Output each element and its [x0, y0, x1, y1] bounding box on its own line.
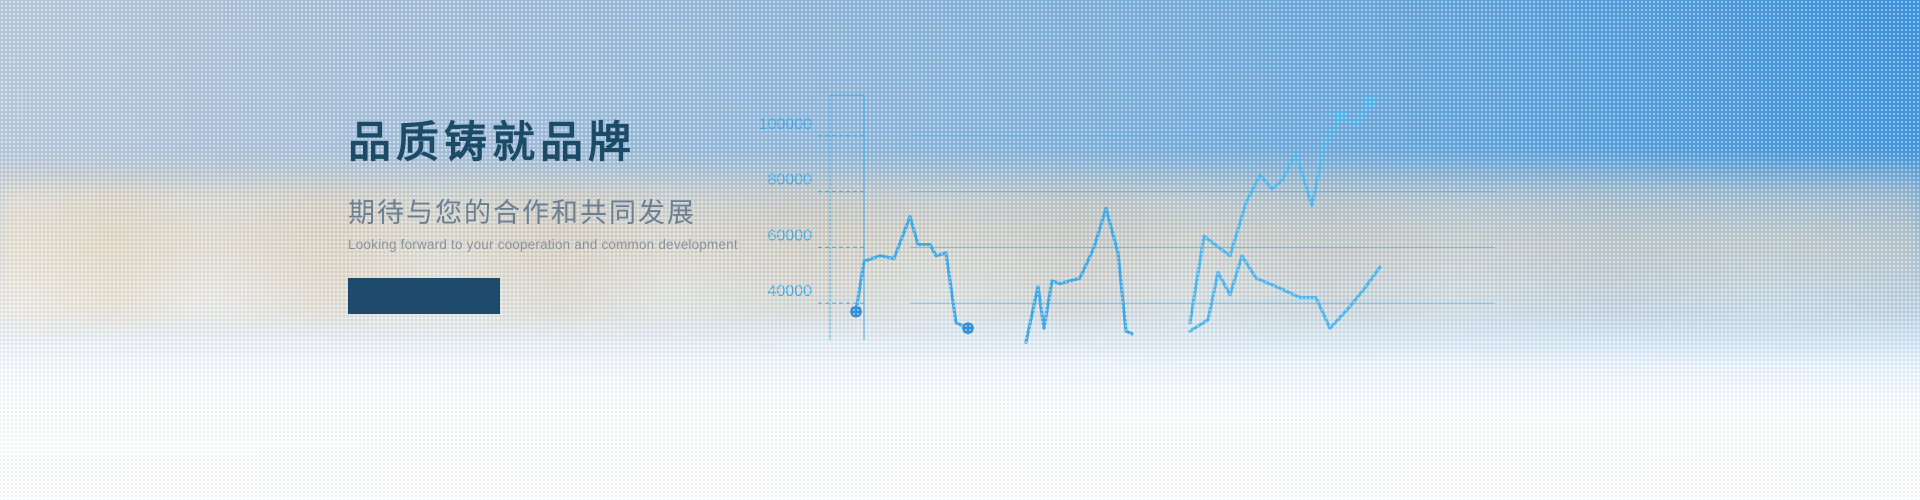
svg-text:80000: 80000 [768, 172, 813, 189]
chart-svg: 100000800006000040000 [760, 60, 1500, 350]
chart-data-markers [850, 96, 1376, 334]
chart-series-lines [856, 102, 1380, 342]
banner-copy: 品质铸就品牌 期待与您的合作和共同发展 Looking forward to y… [348, 118, 768, 314]
cta-button[interactable] [348, 278, 500, 314]
bottom-fade [0, 350, 1920, 500]
svg-text:40000: 40000 [768, 283, 813, 300]
banner-subtitle-cn: 期待与您的合作和共同发展 [348, 191, 768, 230]
hero-banner: 100000800006000040000 品质铸就品牌 期待与您的合作和共同发… [0, 0, 1920, 500]
growth-line-chart: 100000800006000040000 [760, 60, 1500, 350]
svg-text:60000: 60000 [768, 227, 813, 244]
banner-title: 品质铸就品牌 [348, 118, 768, 169]
chart-gridlines [818, 136, 1495, 303]
banner-subtitle-en: Looking forward to your cooperation and … [348, 237, 768, 252]
